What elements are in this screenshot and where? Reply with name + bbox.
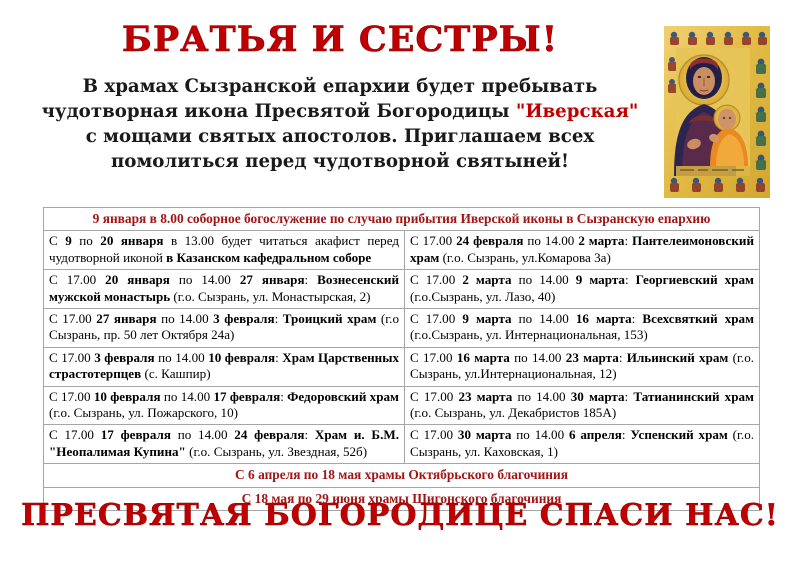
cell-mid-1: по 14.00: [510, 350, 566, 365]
cell-date-end: 24 февраля: [234, 427, 304, 442]
cell-lead: С 17.00: [49, 272, 105, 287]
cell-date-start: 2 марта: [462, 272, 511, 287]
cell-mid-2: :: [305, 272, 318, 287]
cell-address: (г.о. Сызрань, ул. Звездная, 52б): [186, 444, 367, 459]
cell-date-start: 17 февраля: [101, 427, 171, 442]
cell-date-start: 3 февраля: [94, 350, 154, 365]
cell-address: (г.о.Сызрань, ул. Интернациональная, 153…: [410, 327, 648, 342]
cell-place: Всехсвяткий храм: [642, 311, 754, 326]
cell-date-end: 17 февраля: [213, 389, 280, 404]
cell-lead: С 17.00: [410, 233, 456, 248]
cell-place: в Казанском кафедральном соборе: [166, 250, 371, 265]
schedule-body: 9 января в 8.00 соборное богослужение по…: [44, 208, 760, 511]
cell-mid-1: по 14.00: [512, 311, 576, 326]
schedule-cell-right-4: С 17.00 16 марта по 14.00 23 марта: Ильи…: [405, 347, 760, 386]
cell-place: Федоровский храм: [287, 389, 399, 404]
table-row: С 17.00 20 января по 14.00 27 января: Во…: [44, 270, 760, 309]
cell-date-start: 27 января: [96, 311, 156, 326]
cell-date-start: 10 февраля: [94, 389, 161, 404]
subtitle-line-3: с мощами святых апостолов. Приглашаем вс…: [26, 124, 654, 149]
cell-date-end: 9 марта: [576, 272, 625, 287]
cell-mid-1: по 14.00: [170, 272, 240, 287]
cell-mid-1: по 14.00: [161, 389, 214, 404]
cell-date-start: 20 января: [105, 272, 170, 287]
cell-mid-2: :: [619, 350, 627, 365]
schedule-cell-left-5: С 17.00 10 февраля по 14.00 17 февраля: …: [44, 386, 405, 425]
cell-mid-1: по 14.00: [511, 427, 569, 442]
cell-lead: С: [49, 233, 65, 248]
cell-lead: С 17.00: [410, 350, 457, 365]
schedule-cell-right-5: С 17.00 23 марта по 14.00 30 марта: Тати…: [405, 386, 760, 425]
cell-mid-2: :: [625, 272, 636, 287]
cell-address: (с. Кашпир): [141, 366, 210, 381]
cell-date-start: 16 марта: [457, 350, 510, 365]
cell-lead: С 17.00: [49, 389, 94, 404]
table-row-header: 9 января в 8.00 соборное богослужение по…: [44, 208, 760, 231]
cell-address: (г.о. Сызрань, ул. Монастырская, 2): [170, 289, 370, 304]
cell-date-end: 2 марта: [578, 233, 624, 248]
schedule-top-banner: 9 января в 8.00 соборное богослужение по…: [44, 208, 760, 231]
cell-address: (г.о. Сызрань, ул. Декабристов 185А): [410, 405, 616, 420]
cell-date-end: 10 февраля: [208, 350, 275, 365]
cell-mid-1: по: [72, 233, 101, 248]
cell-date-end: 3 февраля: [213, 311, 274, 326]
schedule-cell-right-2: С 17.00 2 марта по 14.00 9 марта: Георги…: [405, 270, 760, 309]
poster-footer-prayer: ПРЕСВЯТАЯ БОГОРОДИЦЕ СПАСИ НАС!: [0, 498, 800, 533]
icon-artwork: [664, 26, 770, 198]
schedule-bottom-banner-1: С 6 апреля по 18 мая храмы Октябрьского …: [44, 464, 760, 487]
cell-place: Успенский храм: [630, 427, 728, 442]
schedule-cell-right-1: С 17.00 24 февраля по 14.00 2 марта: Пан…: [405, 231, 760, 270]
cell-address: (г.о.Сызрань, ул. Лазо, 40): [410, 289, 555, 304]
cell-date-start: 30 марта: [458, 427, 512, 442]
cell-date-end: 16 марта: [576, 311, 632, 326]
cell-mid-1: по 14.00: [512, 389, 570, 404]
schedule-cell-left-4: С 17.00 3 февраля по 14.00 10 февраля: Х…: [44, 347, 405, 386]
cell-date-start: 9 марта: [462, 311, 511, 326]
cell-date-end: 6 апреля: [569, 427, 622, 442]
cell-address: (г.о. Сызрань, ул. Пожарского, 10): [49, 405, 238, 420]
cell-place: Татианинский храм: [633, 389, 754, 404]
icon-name-accent: "Иверская": [516, 101, 639, 122]
cell-date-end: 27 января: [240, 272, 305, 287]
schedule-cell-right-3: С 17.00 9 марта по 14.00 16 марта: Всехс…: [405, 309, 760, 348]
cell-mid-2: :: [304, 427, 314, 442]
cell-mid-1: по 14.00: [512, 272, 576, 287]
cell-lead: С 17.00: [410, 389, 458, 404]
table-row-footer: С 6 апреля по 18 мая храмы Октябрьского …: [44, 464, 760, 487]
table-row: С 9 по 20 января в 13.00 будет читаться …: [44, 231, 760, 270]
cell-date-end: 20 января: [100, 233, 163, 248]
cell-lead: С 17.00: [410, 311, 462, 326]
cell-lead: С 17.00: [49, 350, 94, 365]
cell-date-start: 24 февраля: [456, 233, 523, 248]
subtitle-line-2: чудотворная икона Пресвятой Богородицы "…: [26, 99, 654, 124]
cell-place: Троицкий храм: [283, 311, 377, 326]
poster-header: БРАТЬЯ И СЕСТРЫ! В храмах Сызранской епа…: [0, 0, 800, 200]
schedule-cell-left-6: С 17.00 17 февраля по 14.00 24 февраля: …: [44, 425, 405, 464]
subtitle-line-1: В храмах Сызранской епархии будет пребыв…: [26, 74, 654, 99]
cell-place: Ильинский храм: [627, 350, 729, 365]
schedule-table: 9 января в 8.00 соборное богослужение по…: [43, 207, 760, 511]
subtitle-line-2-text: чудотворная икона Пресвятой Богородицы: [42, 101, 516, 122]
schedule-cell-left-1: С 9 по 20 января в 13.00 будет читаться …: [44, 231, 405, 270]
cell-mid-2: :: [275, 311, 283, 326]
cell-lead: С 17.00: [49, 311, 96, 326]
schedule-cell-left-3: С 17.00 27 января по 14.00 3 февраля: Тр…: [44, 309, 405, 348]
page-title: БРАТЬЯ И СЕСТРЫ!: [30, 22, 650, 57]
subtitle-line-4: помолиться перед чудотворной святыней!: [26, 149, 654, 174]
cell-date-end: 30 марта: [571, 389, 625, 404]
cell-mid-2: :: [632, 311, 643, 326]
cell-lead: С 17.00: [410, 427, 458, 442]
cell-date-end: 23 марта: [566, 350, 619, 365]
table-row: С 17.00 3 февраля по 14.00 10 февраля: Х…: [44, 347, 760, 386]
cell-mid-2: :: [624, 233, 632, 248]
poster-subtitle: В храмах Сызранской епархии будет пребыв…: [26, 74, 654, 174]
table-row: С 17.00 17 февраля по 14.00 24 февраля: …: [44, 425, 760, 464]
cell-lead: С 17.00: [49, 427, 101, 442]
table-row: С 17.00 10 февраля по 14.00 17 февраля: …: [44, 386, 760, 425]
cell-address: (г.о. Сызрань, ул.Комарова 3а): [439, 250, 611, 265]
cell-mid-1: по 14.00: [155, 350, 209, 365]
cell-lead: С 17.00: [410, 272, 462, 287]
schedule-cell-right-6: С 17.00 30 марта по 14.00 6 апреля: Успе…: [405, 425, 760, 464]
cell-mid-1: по 14.00: [157, 311, 214, 326]
cell-mid-1: по 14.00: [523, 233, 578, 248]
cell-date-start: 23 марта: [458, 389, 512, 404]
schedule-cell-left-2: С 17.00 20 января по 14.00 27 января: Во…: [44, 270, 405, 309]
cell-place: Георгиевский храм: [636, 272, 754, 287]
table-row: С 17.00 27 января по 14.00 3 февраля: Тр…: [44, 309, 760, 348]
theotokos-iveron-icon: [664, 26, 770, 198]
cell-mid-1: по 14.00: [171, 427, 234, 442]
